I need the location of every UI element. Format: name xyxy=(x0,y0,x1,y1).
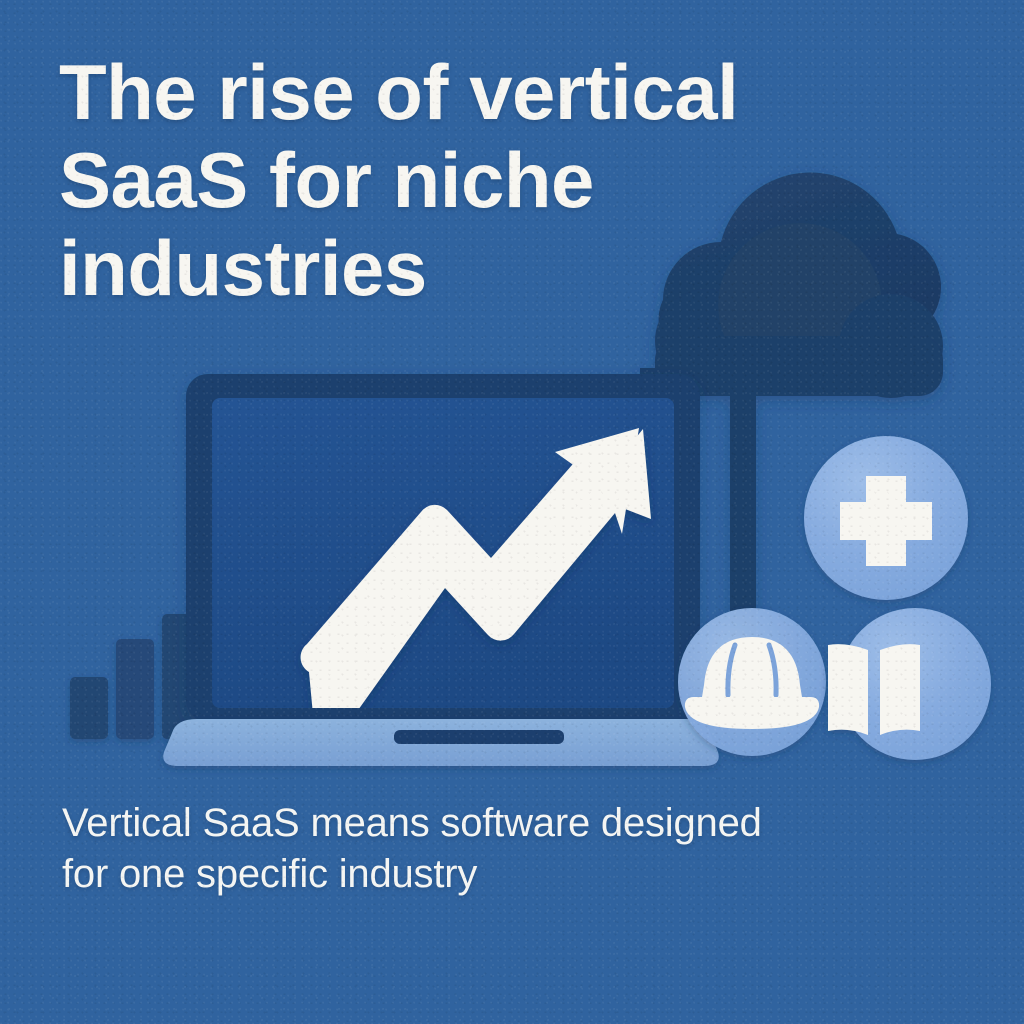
cloud-base xyxy=(655,336,943,396)
page-title-line-2: SaaS for niche xyxy=(59,136,919,224)
laptop-deck-slot xyxy=(394,730,564,744)
poster-canvas: The rise of vertical SaaS for niche indu… xyxy=(0,0,1024,1024)
open-book-page-left xyxy=(828,644,868,735)
page-subtitle-line-2: for one specific industry xyxy=(62,849,982,900)
open-book-page-right xyxy=(880,644,920,735)
laptop xyxy=(163,374,718,766)
open-book-icon xyxy=(828,608,991,760)
page-subtitle: Vertical SaaS means software designed fo… xyxy=(62,798,982,900)
page-title-line-3: industries xyxy=(59,224,919,312)
bar-chart-bar-2 xyxy=(116,639,154,739)
bar-chart-bar-1 xyxy=(70,677,108,739)
medical-cross-icon xyxy=(804,436,968,600)
page-title-line-1: The rise of vertical xyxy=(59,48,919,136)
hard-hat-icon xyxy=(678,608,826,756)
bar-chart xyxy=(70,614,200,739)
page-title: The rise of vertical SaaS for niche indu… xyxy=(59,48,919,312)
page-subtitle-line-1: Vertical SaaS means software designed xyxy=(62,798,982,849)
